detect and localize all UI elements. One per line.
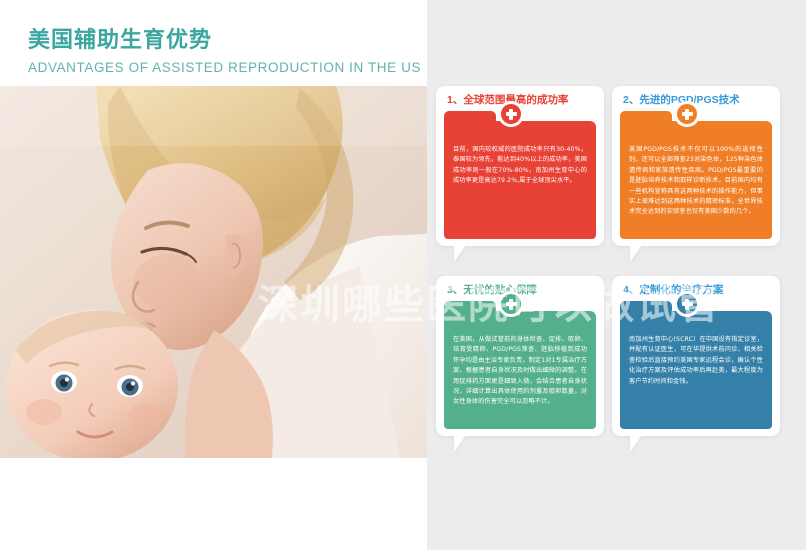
- page-title-cn: 美国辅助生育优势: [28, 26, 428, 54]
- card-title: 4、定制化的治疗方案: [623, 283, 773, 297]
- card-title: 2、先进的PGD/PGS技术: [623, 93, 773, 107]
- card-body-text: 在美国，从做试管前的身体检查、促排、取卵、培育受精卵、PGD/PGS筛查、胚胎移…: [453, 335, 587, 408]
- card-color-panel: 目前，国内较权威的医院成功率只有30-40%，泰国较为领先，能达到40%以上的成…: [444, 111, 596, 239]
- page-root: 美国辅助生育优势 ADVANTAGES OF ASSISTED REPRODUC…: [0, 0, 806, 550]
- plus-badge-icon: [674, 101, 700, 127]
- card-bubble-tail: [454, 435, 466, 452]
- card-body-text: 美国PGD/PGS技术不仅可以100%的选择性别，还可以全部筛查23对染色体，1…: [629, 145, 763, 218]
- hero-photo: [0, 86, 427, 458]
- card-body-text: 南加州生育中心(SCRC）在中国设有指定诊室，并配有认证医生，可在华提供术前问诊…: [629, 335, 763, 387]
- card-color-panel: 南加州生育中心(SCRC）在中国设有指定诊室，并配有认证医生，可在华提供术前问诊…: [620, 301, 772, 429]
- card-panel-body: 目前，国内较权威的医院成功率只有30-40%，泰国较为领先，能达到40%以上的成…: [444, 121, 596, 239]
- card-title: 1、全球范围最高的成功率: [447, 93, 597, 107]
- card-title: 3、无忧的贴心保障: [447, 283, 597, 297]
- card-color-panel: 在美国，从做试管前的身体检查、促排、取卵、培育受精卵、PGD/PGS筛查、胚胎移…: [444, 301, 596, 429]
- card-bubble-tail: [630, 435, 642, 452]
- advantage-card-4[interactable]: 4、定制化的治疗方案 南加州生育中心(SCRC）在中国设有指定诊室，并配有认证医…: [612, 276, 780, 454]
- card-panel-body: 南加州生育中心(SCRC）在中国设有指定诊室，并配有认证医生，可在华提供术前问诊…: [620, 311, 772, 429]
- page-title-en: ADVANTAGES OF ASSISTED REPRODUCTION IN T…: [28, 58, 428, 78]
- plus-badge-icon: [498, 101, 524, 127]
- card-body-text: 目前，国内较权威的医院成功率只有30-40%，泰国较为领先，能达到40%以上的成…: [453, 145, 587, 187]
- advantage-card-1[interactable]: 1、全球范围最高的成功率 目前，国内较权威的医院成功率只有30-40%，泰国较为…: [436, 86, 604, 264]
- advantage-cards: 1、全球范围最高的成功率 目前，国内较权威的医院成功率只有30-40%，泰国较为…: [436, 86, 796, 466]
- card-panel-body: 在美国，从做试管前的身体检查、促排、取卵、培育受精卵、PGD/PGS筛查、胚胎移…: [444, 311, 596, 429]
- advantage-card-3[interactable]: 3、无忧的贴心保障 在美国，从做试管前的身体检查、促排、取卵、培育受精卵、PGD…: [436, 276, 604, 454]
- card-bubble-tail: [630, 245, 642, 262]
- page-heading: 美国辅助生育优势 ADVANTAGES OF ASSISTED REPRODUC…: [28, 26, 428, 78]
- card-color-panel: 美国PGD/PGS技术不仅可以100%的选择性别，还可以全部筛查23对染色体，1…: [620, 111, 772, 239]
- plus-badge-icon: [674, 291, 700, 317]
- advantage-card-2[interactable]: 2、先进的PGD/PGS技术 美国PGD/PGS技术不仅可以100%的选择性别，…: [612, 86, 780, 264]
- card-bubble-tail: [454, 245, 466, 262]
- card-panel-body: 美国PGD/PGS技术不仅可以100%的选择性别，还可以全部筛查23对染色体，1…: [620, 121, 772, 239]
- plus-badge-icon: [498, 291, 524, 317]
